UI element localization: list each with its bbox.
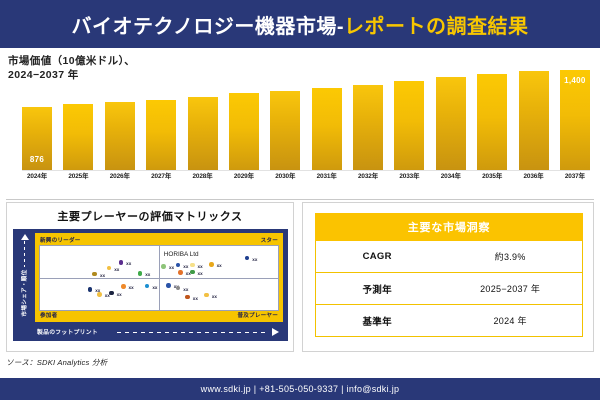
player-matrix-panel: 主要プレーヤーの評価マトリックス 市場シェア・順位 新興のリーダー スター 参加…	[6, 202, 294, 352]
bar-column	[270, 62, 300, 170]
bar-column	[229, 62, 259, 170]
key-insight-label: 基準年	[316, 314, 438, 328]
bar-column	[312, 62, 342, 170]
key-insight-label: 予測年	[316, 282, 438, 296]
x-axis-tick-label: 2025年	[63, 171, 93, 184]
footer-contact-text: www.sdki.jp | +81-505-050-9337 | info@sd…	[201, 384, 400, 394]
bar	[63, 104, 93, 170]
matrix-data-point	[109, 291, 114, 296]
x-axis-tick-label: 2036年	[519, 171, 549, 184]
quadrant-label-stars: スター	[261, 236, 278, 244]
bar-column	[477, 62, 507, 170]
x-axis-tick-label: 2027年	[146, 171, 176, 184]
matrix-data-point-label: xx	[198, 271, 203, 276]
bar	[188, 97, 218, 170]
key-insight-value: 2024 年	[438, 314, 582, 327]
x-axis-tick-label: 2033年	[394, 171, 424, 184]
matrix-x-axis: 製品のフットプリント	[35, 324, 283, 338]
matrix-data-point	[178, 270, 183, 275]
matrix-data-point	[107, 266, 112, 271]
matrix-y-axis: 市場シェア・順位	[15, 233, 33, 338]
key-insight-value: 約3.9%	[438, 250, 582, 263]
matrix-data-point	[161, 264, 166, 269]
bar	[312, 88, 342, 170]
matrix-data-point	[92, 272, 97, 277]
matrix-data-point-label: xx	[169, 265, 174, 270]
matrix-data-point	[185, 295, 190, 300]
page-title-primary: バイオテクノロジー機器市場-	[72, 16, 344, 38]
matrix-y-axis-label: 市場シェア・順位	[20, 263, 28, 323]
x-axis-tick-label: 2035年	[477, 171, 507, 184]
key-insights-rows: CAGR約3.9%予測年2025−2037 年基準年2024 年	[315, 241, 583, 337]
key-insight-value: 2025−2037 年	[438, 282, 582, 295]
x-axis-tick-label: 2028年	[188, 171, 218, 184]
key-insight-row: 基準年2024 年	[315, 305, 583, 337]
bar: 1,400	[560, 70, 590, 170]
matrix-data-point	[204, 293, 209, 298]
report-infographic: バイオテクノロジー機器市場-レポートの調査結果 市場価値（10億米ドル）、 20…	[0, 0, 600, 400]
matrix-data-point	[209, 262, 214, 267]
bar	[270, 91, 300, 170]
x-axis-tick-labels: 2024年2025年2026年2027年2028年2029年2030年2031年…	[22, 171, 590, 184]
key-insights-heading: 主要な市場洞察	[315, 213, 583, 241]
matrix-data-point	[119, 260, 124, 265]
matrix-data-point-label: xx	[183, 264, 188, 269]
source-note: ソース：SDKI Analytics 分析	[6, 357, 107, 368]
matrix-data-point-label: xx	[117, 292, 122, 297]
page-title-accent: レポートの調査結果	[344, 16, 529, 38]
x-axis-tick-label: 2031年	[312, 171, 342, 184]
quadrant-label-pervasive-players: 普及プレーヤー	[237, 311, 278, 319]
x-axis-tick-label: 2034年	[436, 171, 466, 184]
quadrant-horizontal-divider	[40, 278, 278, 279]
matrix-title: 主要プレーヤーの評価マトリックス	[7, 208, 293, 224]
key-insights-table: 主要な市場洞察 CAGR約3.9%予測年2025−2037 年基準年2024 年	[315, 213, 583, 337]
page-title: バイオテクノロジー機器市場-レポートの調査結果	[72, 10, 529, 39]
matrix-data-point	[190, 263, 195, 268]
quadrant-label-emerging-leaders: 新興のリーダー	[40, 236, 81, 244]
matrix-data-point	[245, 256, 250, 261]
matrix-data-point-label: xx	[183, 287, 188, 292]
x-axis-tick-label: 2037年	[560, 171, 590, 184]
matrix-data-point-label: xx	[193, 296, 198, 301]
key-insights-panel: 主要な市場洞察 CAGR約3.9%予測年2025−2037 年基準年2024 年	[302, 202, 594, 352]
matrix-data-point-label: xx	[152, 285, 157, 290]
arrow-up-icon	[21, 234, 29, 240]
matrix-data-point	[121, 284, 126, 289]
matrix-data-point	[145, 284, 150, 289]
matrix-x-axis-label: 製品のフットプリント	[37, 327, 98, 336]
bar-chart-panel: 市場価値（10億米ドル）、 2024−2037 年 8761,400 2024年…	[0, 48, 600, 200]
x-axis-tick-label: 2032年	[353, 171, 383, 184]
key-insight-row: CAGR約3.9%	[315, 241, 583, 273]
quadrant-label-participants: 参加者	[40, 311, 57, 319]
matrix-chart: 市場シェア・順位 新興のリーダー スター 参加者 普及プレーヤー HORIBA …	[13, 229, 288, 341]
bar-column	[146, 62, 176, 170]
x-axis-tick-label: 2030年	[270, 171, 300, 184]
matrix-data-point-label: xx	[114, 267, 119, 272]
x-axis-tick-label: 2024年	[22, 171, 52, 184]
bar-column	[63, 62, 93, 170]
matrix-data-point-label: xx	[252, 257, 257, 262]
bar-column	[188, 62, 218, 170]
bar	[353, 85, 383, 170]
bar-value-label: 876	[22, 155, 52, 164]
x-axis-dashed-line	[117, 332, 269, 333]
matrix-company-label-horiba: HORIBA Ltd	[164, 251, 199, 258]
bar	[477, 74, 507, 170]
matrix-data-point	[190, 270, 195, 275]
bar-column	[436, 62, 466, 170]
bar-column: 1,400	[560, 62, 590, 170]
bar	[105, 102, 135, 170]
panel-divider	[6, 199, 594, 200]
key-insight-row: 予測年2025−2037 年	[315, 273, 583, 305]
page-title-bar: バイオテクノロジー機器市場-レポートの調査結果	[0, 0, 600, 48]
matrix-data-point-label: xx	[212, 294, 217, 299]
matrix-data-point	[138, 271, 143, 276]
bar-column	[105, 62, 135, 170]
matrix-data-point	[176, 263, 181, 268]
x-axis-tick-label: 2026年	[105, 171, 135, 184]
matrix-data-point-label: xx	[217, 263, 222, 268]
bar-column	[519, 62, 549, 170]
matrix-data-point-label: xx	[198, 264, 203, 269]
key-insight-label: CAGR	[316, 251, 438, 262]
bar	[229, 93, 259, 170]
matrix-quadrant-grid: HORIBA Ltd xxxxxxxxxxxxxxxxxxxxxxxxxxxxx…	[39, 245, 279, 311]
bar	[519, 71, 549, 170]
bar	[394, 81, 424, 170]
bar-column	[353, 62, 383, 170]
bar	[436, 77, 466, 170]
bar-value-label: 1,400	[560, 76, 590, 85]
matrix-data-point-label: xx	[129, 285, 134, 290]
x-axis-tick-label: 2029年	[229, 171, 259, 184]
matrix-data-point	[166, 283, 171, 288]
bar-series: 8761,400	[22, 62, 590, 170]
matrix-data-point	[176, 286, 181, 291]
arrow-right-icon	[272, 328, 279, 336]
bar	[146, 100, 176, 170]
matrix-data-point	[88, 287, 93, 292]
matrix-data-point	[97, 292, 102, 297]
bar-chart-plot-area: 8761,400 2024年2025年2026年2027年2028年2029年2…	[22, 62, 590, 184]
matrix-data-point-label: xx	[100, 273, 105, 278]
bar-column: 876	[22, 62, 52, 170]
matrix-data-point-label: xx	[126, 261, 131, 266]
matrix-data-point-label: xx	[145, 272, 150, 277]
matrix-gold-frame: 新興のリーダー スター 参加者 普及プレーヤー HORIBA Ltd xxxxx…	[35, 233, 283, 322]
bar: 876	[22, 107, 52, 170]
bar-column	[394, 62, 424, 170]
footer-bar: www.sdki.jp | +81-505-050-9337 | info@sd…	[0, 378, 600, 400]
